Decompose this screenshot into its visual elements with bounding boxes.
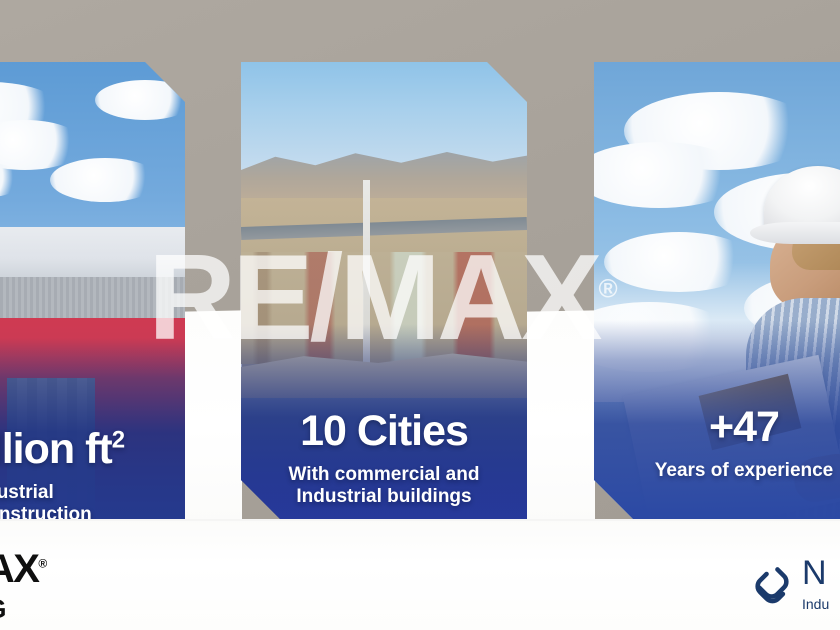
stat-card-industrial-sqft[interactable]: Million ft2 of industrial ng Constructio…: [0, 62, 185, 520]
stat-superscript: 2: [112, 427, 124, 454]
partner-logo[interactable]: N Indu: [752, 556, 829, 611]
stat-card-cities[interactable]: 10 Cities With commercial and Industrial…: [241, 62, 527, 520]
partner-name: N: [802, 556, 829, 590]
warehouse-metal-band: [0, 277, 185, 319]
footer-band: [0, 519, 840, 630]
partner-text-block: N Indu: [802, 556, 829, 611]
stat-description: of industrial ng Construction: [0, 482, 175, 520]
stat-description-line-1: With commercial and: [251, 464, 517, 486]
stat-label-overlay: +47 Years of experience: [594, 320, 840, 520]
stat-value: 10 Cities: [251, 410, 517, 454]
registered-mark-icon: ®: [38, 557, 47, 571]
gap-panel-left: [183, 310, 242, 523]
remax-logo-suffix: HG: [0, 596, 47, 623]
stat-value: Million ft2: [0, 428, 175, 472]
stat-description-line-1: Years of experience: [604, 460, 840, 482]
stat-label-overlay: Million ft2 of industrial ng Constructio…: [0, 338, 185, 520]
chain-links-icon: [752, 562, 792, 606]
stat-description-line-2: ng Construction: [0, 504, 175, 520]
partner-tagline: Indu: [802, 597, 829, 611]
hard-hat-brim: [750, 222, 840, 244]
stat-label-overlay: 10 Cities With commercial and Industrial…: [241, 324, 527, 520]
stat-description-line-2: Industrial buildings: [251, 486, 517, 508]
stat-value: +47: [604, 406, 840, 450]
gap-panel-right: [526, 310, 595, 523]
stat-description: Years of experience: [604, 460, 840, 482]
remax-hg-logo[interactable]: MAX® HG: [0, 549, 47, 623]
slide-canvas: Million ft2 of industrial ng Constructio…: [0, 0, 840, 630]
sky-layer: [241, 62, 527, 172]
stat-card-experience[interactable]: +47 Years of experience: [594, 62, 840, 520]
cloud-shape: [50, 158, 160, 202]
stat-description-line-1: of industrial: [0, 482, 175, 504]
remax-logo-wordmark: MAX®: [0, 549, 47, 589]
warehouse-roof: [0, 227, 185, 279]
stat-description: With commercial and Industrial buildings: [251, 464, 517, 509]
